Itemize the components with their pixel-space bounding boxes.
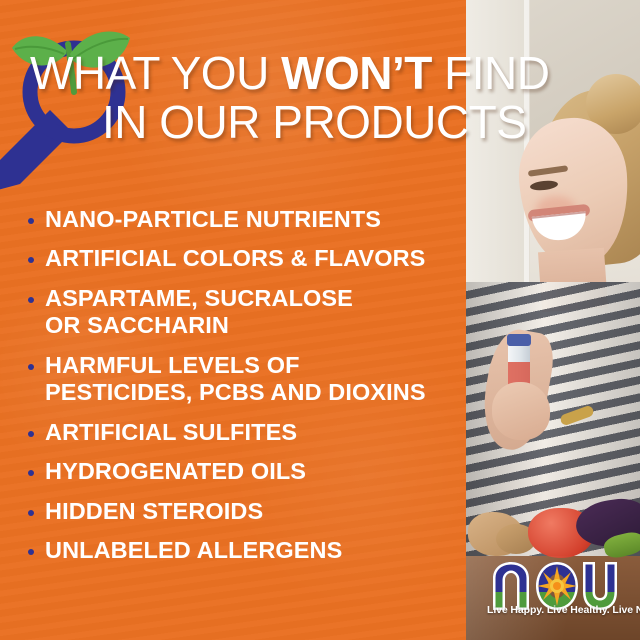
bullet-dot-icon (28, 218, 34, 224)
bullet-dot-icon (28, 431, 34, 437)
list-item: HIDDEN STEROIDS (28, 498, 458, 525)
list-item-label: UNLABELED ALLERGENS (45, 537, 342, 564)
poster-canvas: WHAT YOU WON’T FIND IN OUR PRODUCTS NANO… (0, 0, 640, 640)
bullet-dot-icon (28, 297, 34, 303)
bullet-dot-icon (28, 364, 34, 370)
woman-hand (492, 382, 550, 440)
list-item: NANO-PARTICLE NUTRIENTS (28, 206, 458, 233)
bullet-dot-icon (28, 549, 34, 555)
wall-panel (466, 0, 530, 300)
list-item-label: NANO-PARTICLE NUTRIENTS (45, 206, 381, 233)
list-item-label: ARTIFICIAL COLORS & FLAVORS (45, 245, 425, 272)
bullet-dot-icon (28, 510, 34, 516)
list-item-label: HARMFUL LEVELS OF PESTICIDES, PCBS AND D… (45, 352, 426, 407)
supplement-bottle-cap (507, 334, 531, 346)
emblem-svg (0, 14, 138, 204)
list-item: HYDROGENATED OILS (28, 458, 458, 485)
list-item: ARTIFICIAL SULFITES (28, 419, 458, 446)
list-item: ASPARTAME, SUCRALOSE OR SACCHARIN (28, 285, 458, 340)
sunburst-icon (537, 566, 577, 606)
list-item: HARMFUL LEVELS OF PESTICIDES, PCBS AND D… (28, 352, 458, 407)
list-item-label: ASPARTAME, SUCRALOSE OR SACCHARIN (45, 285, 353, 340)
list-item-label: HIDDEN STEROIDS (45, 498, 263, 525)
leaf-right-icon (70, 31, 130, 67)
sun-center-icon (553, 582, 561, 590)
bullet-dot-icon (28, 257, 34, 263)
brand-tagline: Live Happy. Live Healthy. Live NOW. (487, 604, 629, 616)
bullet-dot-icon (28, 470, 34, 476)
magnifier-leaf-emblem (0, 14, 138, 204)
list-item: UNLABELED ALLERGENS (28, 537, 458, 564)
list-item-label: ARTIFICIAL SULFITES (45, 419, 297, 446)
list-item: ARTIFICIAL COLORS & FLAVORS (28, 245, 458, 272)
excluded-ingredients-list: NANO-PARTICLE NUTRIENTS ARTIFICIAL COLOR… (28, 206, 458, 577)
list-item-label: HYDROGENATED OILS (45, 458, 306, 485)
